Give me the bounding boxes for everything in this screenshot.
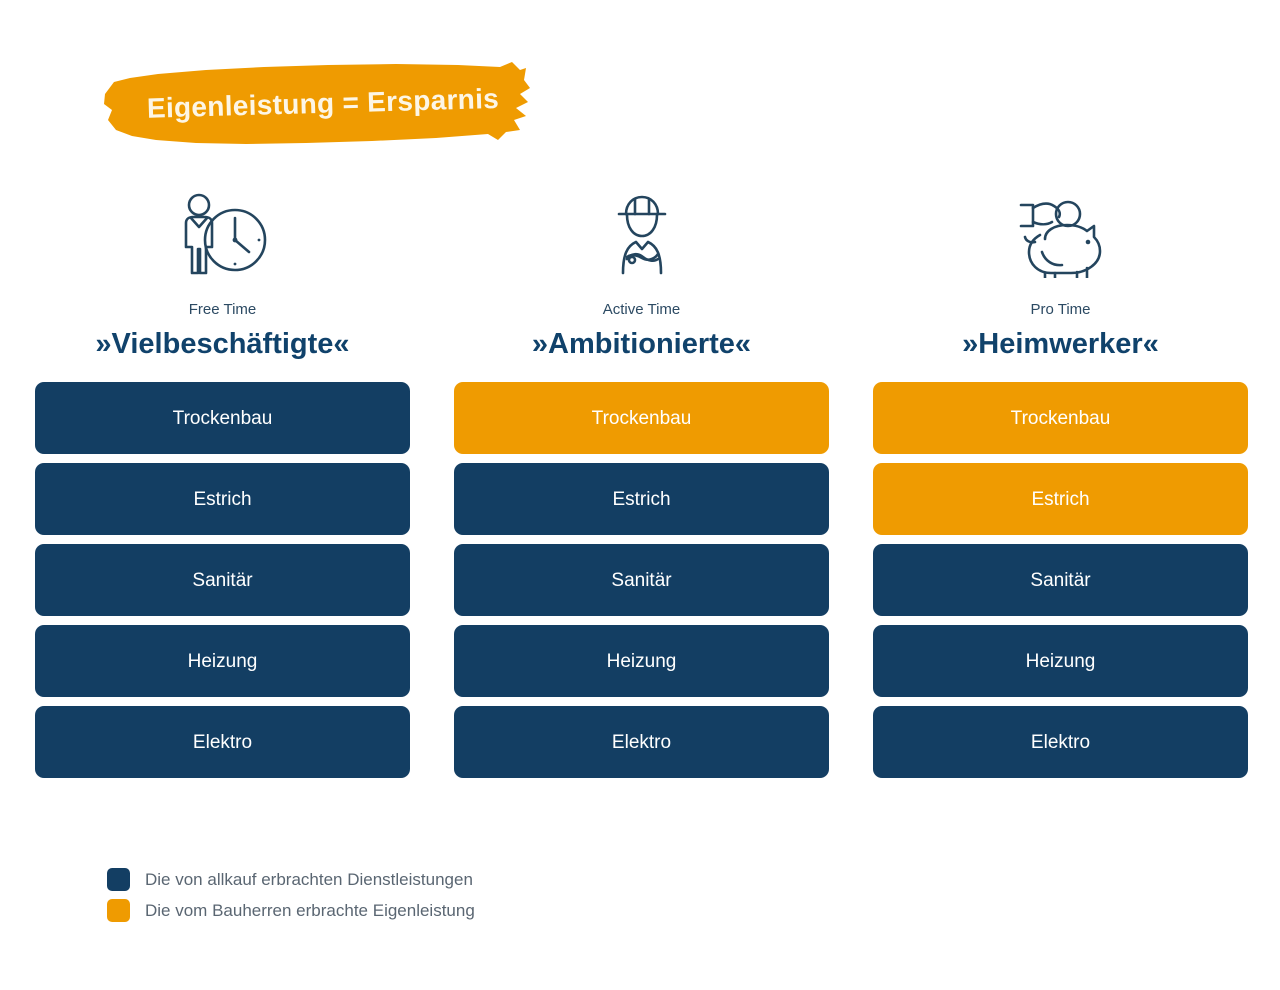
- column-active-time: Active Time »Ambitionierte« Trockenbau E…: [454, 190, 829, 778]
- trade-bar: Estrich: [873, 463, 1248, 535]
- column-title: »Ambitionierte«: [532, 329, 751, 359]
- legend-label: Die von allkauf erbrachten Dienstleistun…: [145, 871, 473, 888]
- legend-item: Die vom Bauherren erbrachte Eigenleistun…: [107, 899, 475, 922]
- trade-bar: Trockenbau: [35, 382, 410, 454]
- trade-bar: Trockenbau: [454, 382, 829, 454]
- piggy-bank-with-coin-icon: [1015, 190, 1107, 280]
- column-kicker: Active Time: [603, 302, 681, 317]
- column-free-time: Free Time »Vielbeschäftigte« Trockenbau …: [35, 190, 410, 778]
- trade-bar-list: Trockenbau Estrich Sanitär Heizung Elekt…: [873, 382, 1248, 778]
- trade-bar: Trockenbau: [873, 382, 1248, 454]
- column-title: »Heimwerker«: [962, 329, 1159, 359]
- trade-bar-list: Trockenbau Estrich Sanitär Heizung Elekt…: [454, 382, 829, 778]
- legend-swatch-orange: [107, 899, 130, 922]
- legend: Die von allkauf erbrachten Dienstleistun…: [107, 868, 475, 922]
- trade-bar: Elektro: [873, 706, 1248, 778]
- comparison-columns: Free Time »Vielbeschäftigte« Trockenbau …: [35, 190, 1248, 778]
- trade-bar-list: Trockenbau Estrich Sanitär Heizung Elekt…: [35, 382, 410, 778]
- trade-bar: Estrich: [454, 463, 829, 535]
- trade-bar: Elektro: [35, 706, 410, 778]
- worker-hardhat-crossed-arms-icon: [602, 190, 682, 280]
- trade-bar: Heizung: [454, 625, 829, 697]
- column-kicker: Pro Time: [1030, 302, 1090, 317]
- legend-item: Die von allkauf erbrachten Dienstleistun…: [107, 868, 475, 891]
- trade-bar: Heizung: [35, 625, 410, 697]
- column-kicker: Free Time: [189, 302, 257, 317]
- trade-bar: Heizung: [873, 625, 1248, 697]
- trade-bar: Elektro: [454, 706, 829, 778]
- trade-bar: Estrich: [35, 463, 410, 535]
- column-title: »Vielbeschäftigte«: [95, 329, 349, 359]
- column-pro-time: Pro Time »Heimwerker« Trockenbau Estrich…: [873, 190, 1248, 778]
- trade-bar: Sanitär: [35, 544, 410, 616]
- person-with-clock-icon: [175, 190, 271, 280]
- trade-bar: Sanitär: [454, 544, 829, 616]
- trade-bar: Sanitär: [873, 544, 1248, 616]
- banner-title: Eigenleistung = Ersparnis: [95, 52, 537, 156]
- legend-label: Die vom Bauherren erbrachte Eigenleistun…: [145, 902, 475, 919]
- legend-swatch-navy: [107, 868, 130, 891]
- headline-banner: Eigenleistung = Ersparnis: [96, 58, 536, 150]
